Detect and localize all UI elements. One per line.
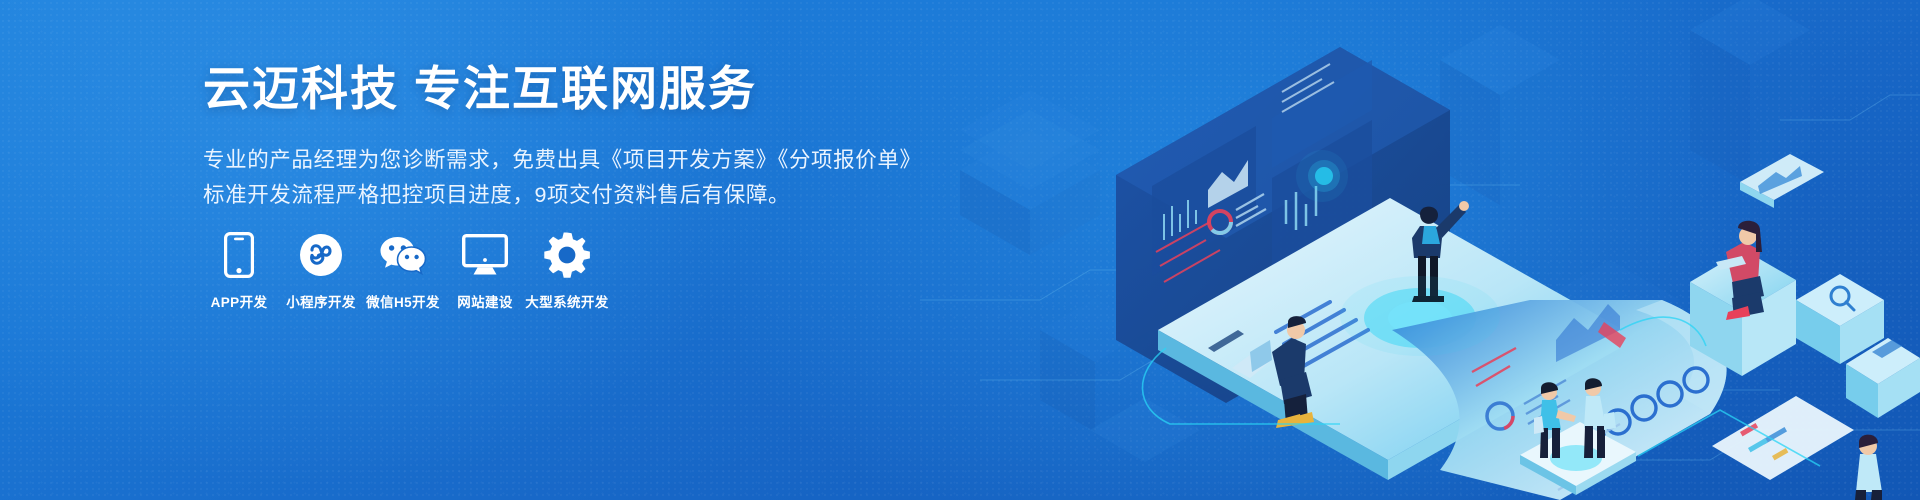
code-panel: [1712, 396, 1854, 480]
icon-cubes: [1796, 274, 1920, 418]
page-title: 云迈科技 专注互联网服务: [203, 60, 903, 117]
service-label-mini-program: 小程序开发: [286, 291, 356, 311]
person-standing-right: [1855, 435, 1882, 500]
service-item-mini-program[interactable]: 小程序开发: [285, 231, 357, 311]
service-item-website[interactable]: 网站建设: [449, 231, 521, 311]
service-label-app: APP开发: [211, 291, 268, 311]
service-item-wechat-h5[interactable]: 微信H5开发: [367, 231, 439, 311]
person-pedestal-laptop: [1690, 154, 1824, 376]
service-label-wechat-h5: 微信H5开发: [366, 291, 440, 311]
service-label-website: 网站建设: [457, 291, 513, 311]
gear-icon: [544, 231, 590, 279]
subtitle-line-1: 专业的产品经理为您诊断需求，免费出具《项目开发方案》《分项报价单》: [203, 143, 903, 178]
mini-program-icon: [299, 231, 343, 279]
wechat-icon: [379, 231, 427, 279]
service-list: APP开发 小程序开发: [203, 231, 603, 311]
smartphone-icon: [224, 231, 254, 279]
hero-copy: 云迈科技 专注互联网服务 专业的产品经理为您诊断需求，免费出具《项目开发方案》《…: [203, 60, 903, 213]
service-item-large-system[interactable]: 大型系统开发: [531, 231, 603, 311]
service-item-app[interactable]: APP开发: [203, 231, 275, 311]
hero-banner: 云迈科技 专注互联网服务 专业的产品经理为您诊断需求，免费出具《项目开发方案》《…: [0, 0, 1920, 500]
monitor-icon: [462, 231, 508, 279]
service-label-large-system: 大型系统开发: [525, 291, 608, 311]
subtitle-line-2: 标准开发流程严格把控项目进度，9项交付资料售后有保障。: [203, 178, 903, 213]
hero-illustration: [920, 0, 1920, 500]
